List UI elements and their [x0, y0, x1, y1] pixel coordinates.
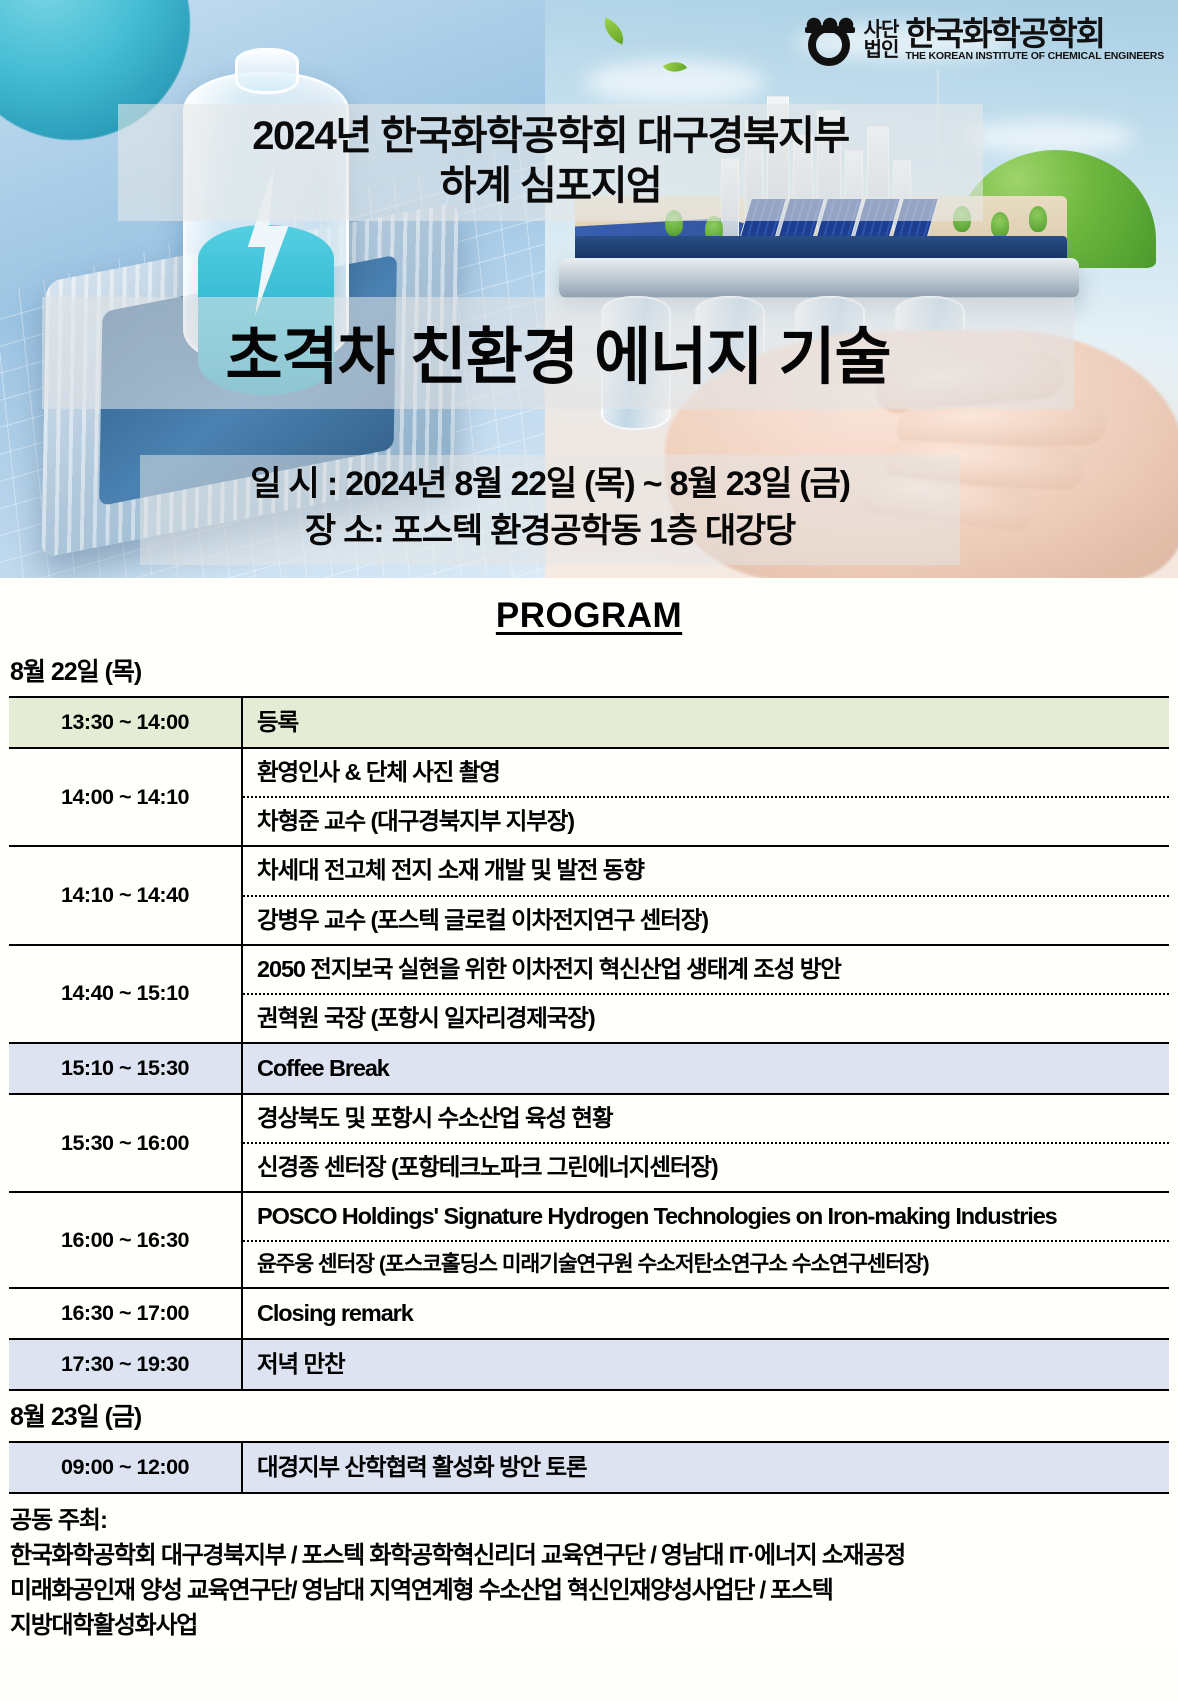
tree-icon	[1029, 206, 1047, 232]
organizers-line: 미래화공인재 양성 교육연구단/ 영남대 지역연계형 수소산업 혁신인재양성사업…	[10, 1574, 1168, 1609]
kiche-logo-mark-icon	[803, 14, 857, 66]
battery-cap-decor	[235, 48, 299, 94]
poster-title-line1: 2024년 한국화학공학회 대구경북지부	[128, 112, 973, 162]
hero-banner: 사단 법인 한국화학공학회 THE KOREAN INSTITUTE OF CH…	[0, 0, 1178, 578]
schedule-table-day1: 13:30 ~ 14:00 등록 14:00 ~ 14:10 환영인사 & 단체…	[9, 696, 1169, 1391]
row-body: Coffee Break	[242, 1043, 1169, 1094]
row-body: POSCO Holdings' Signature Hydrogen Techn…	[242, 1192, 1169, 1288]
poster-root: 사단 법인 한국화학공학회 THE KOREAN INSTITUTE OF CH…	[0, 0, 1178, 1701]
logo-beobin-text: 법인	[864, 40, 899, 60]
row-body: 경상북도 및 포항시 수소산업 육성 현황 신경종 센터장 (포항테크노파크 그…	[242, 1094, 1169, 1192]
kiche-logo: 사단 법인 한국화학공학회 THE KOREAN INSTITUTE OF CH…	[803, 14, 1164, 66]
row-title: POSCO Holdings' Signature Hydrogen Techn…	[243, 1193, 1169, 1242]
program-heading: PROGRAM	[0, 596, 1178, 636]
row-time: 13:30 ~ 14:00	[9, 697, 242, 748]
row-time: 16:00 ~ 16:30	[9, 1192, 242, 1288]
row-body: 저녁 만찬	[242, 1339, 1169, 1390]
row-title: 차세대 전고체 전지 소재 개발 및 발전 동향	[243, 847, 1169, 896]
row-speaker: 차형준 교수 (대구경북지부 지부장)	[243, 798, 1169, 845]
table-row: 14:40 ~ 15:10 2050 전지보국 실현을 위한 이차전지 혁신산업…	[9, 945, 1169, 1043]
row-speaker: 윤주웅 센터장 (포스코홀딩스 미래기술연구원 수소저탄소연구소 수소연구센터장…	[243, 1242, 1169, 1287]
logo-english-name: THE KOREAN INSTITUTE OF CHEMICAL ENGINEE…	[905, 51, 1164, 63]
poster-title: 2024년 한국화학공학회 대구경북지부 하계 심포지엄	[118, 104, 983, 221]
row-body: 환영인사 & 단체 사진 촬영 차형준 교수 (대구경북지부 지부장)	[242, 748, 1169, 846]
row-body: 등록	[242, 697, 1169, 748]
table-row: 16:00 ~ 16:30 POSCO Holdings' Signature …	[9, 1192, 1169, 1288]
row-body: 차세대 전고체 전지 소재 개발 및 발전 동향 강병우 교수 (포스텍 글로컬…	[242, 846, 1169, 944]
table-row: 09:00 ~ 12:00 대경지부 산학협력 활성화 방안 토론	[9, 1442, 1169, 1493]
event-datetime: 일 시 : 2024년 8월 22일 (목) ~ 8월 23일 (금)	[140, 461, 960, 508]
row-title: 대경지부 산학협력 활성화 방안 토론	[243, 1443, 1169, 1492]
logo-corporate-prefix: 사단 법인	[864, 20, 899, 61]
table-row: 14:00 ~ 14:10 환영인사 & 단체 사진 촬영 차형준 교수 (대구…	[9, 748, 1169, 846]
row-title: 등록	[243, 698, 1169, 747]
tablet-device-decor	[559, 258, 1079, 298]
organizers-heading: 공동 주최:	[10, 1504, 1168, 1539]
table-row: 17:30 ~ 19:30 저녁 만찬	[9, 1339, 1169, 1390]
table-row: 15:30 ~ 16:00 경상북도 및 포항시 수소산업 육성 현황 신경종 …	[9, 1094, 1169, 1192]
row-time: 15:10 ~ 15:30	[9, 1043, 242, 1094]
row-time: 14:00 ~ 14:10	[9, 748, 242, 846]
organizers-line: 지방대학활성화사업	[10, 1609, 1168, 1644]
organizers-line: 한국화학공학회 대구경북지부 / 포스텍 화학공학혁신리더 교육연구단 / 영남…	[10, 1539, 1168, 1574]
row-body: Closing remark	[242, 1288, 1169, 1339]
row-speaker: 권혁원 국장 (포항시 일자리경제국장)	[243, 995, 1169, 1042]
row-title: Coffee Break	[243, 1044, 1169, 1093]
logo-sadan-text: 사단	[864, 20, 899, 40]
poster-title-line2: 하계 심포지엄	[128, 162, 973, 212]
row-time: 14:40 ~ 15:10	[9, 945, 242, 1043]
table-row: 15:10 ~ 15:30 Coffee Break	[9, 1043, 1169, 1094]
tree-icon	[991, 212, 1009, 238]
program-section: PROGRAM 8월 22일 (목) 13:30 ~ 14:00 등록 14:0…	[0, 578, 1178, 1650]
row-speaker: 강병우 교수 (포스텍 글로컬 이차전지연구 센터장)	[243, 897, 1169, 944]
poster-theme: 초격차 친환경 에너지 기술	[42, 297, 1074, 409]
table-row: 16:30 ~ 17:00 Closing remark	[9, 1288, 1169, 1339]
logo-ring-decor	[808, 24, 850, 66]
row-time: 15:30 ~ 16:00	[9, 1094, 242, 1192]
table-row: 13:30 ~ 14:00 등록	[9, 697, 1169, 748]
row-title: Closing remark	[243, 1289, 1169, 1338]
logo-names: 한국화학공학회 THE KOREAN INSTITUTE OF CHEMICAL…	[905, 17, 1164, 63]
cloud-decor	[965, 120, 1135, 154]
poster-info-block: 일 시 : 2024년 8월 22일 (목) ~ 8월 23일 (금) 장 소:…	[140, 455, 960, 565]
row-title: 저녁 만찬	[243, 1340, 1169, 1389]
row-time: 16:30 ~ 17:00	[9, 1288, 242, 1339]
event-venue: 장 소: 포스텍 환경공학동 1층 대강당	[140, 508, 960, 555]
day-label-2: 8월 23일 (금)	[0, 1391, 1178, 1441]
schedule-table-day2: 09:00 ~ 12:00 대경지부 산학협력 활성화 방안 토론	[9, 1441, 1169, 1494]
row-title: 환영인사 & 단체 사진 촬영	[243, 749, 1169, 798]
row-speaker: 신경종 센터장 (포항테크노파크 그린에너지센터장)	[243, 1144, 1169, 1191]
leaf-icon	[598, 17, 629, 44]
row-time: 14:10 ~ 14:40	[9, 846, 242, 944]
row-title: 경상북도 및 포항시 수소산업 육성 현황	[243, 1095, 1169, 1144]
day-label-1: 8월 22일 (목)	[0, 646, 1178, 696]
organizers-block: 공동 주최: 한국화학공학회 대구경북지부 / 포스텍 화학공학혁신리더 교육연…	[0, 1494, 1178, 1649]
row-body: 2050 전지보국 실현을 위한 이차전지 혁신산업 생태계 조성 방안 권혁원…	[242, 945, 1169, 1043]
logo-korean-name: 한국화학공학회	[905, 17, 1164, 50]
row-title: 2050 전지보국 실현을 위한 이차전지 혁신산업 생태계 조성 방안	[243, 946, 1169, 995]
row-body: 대경지부 산학협력 활성화 방안 토론	[242, 1442, 1169, 1493]
row-time: 09:00 ~ 12:00	[9, 1442, 242, 1493]
table-row: 14:10 ~ 14:40 차세대 전고체 전지 소재 개발 및 발전 동향 강…	[9, 846, 1169, 944]
row-time: 17:30 ~ 19:30	[9, 1339, 242, 1390]
